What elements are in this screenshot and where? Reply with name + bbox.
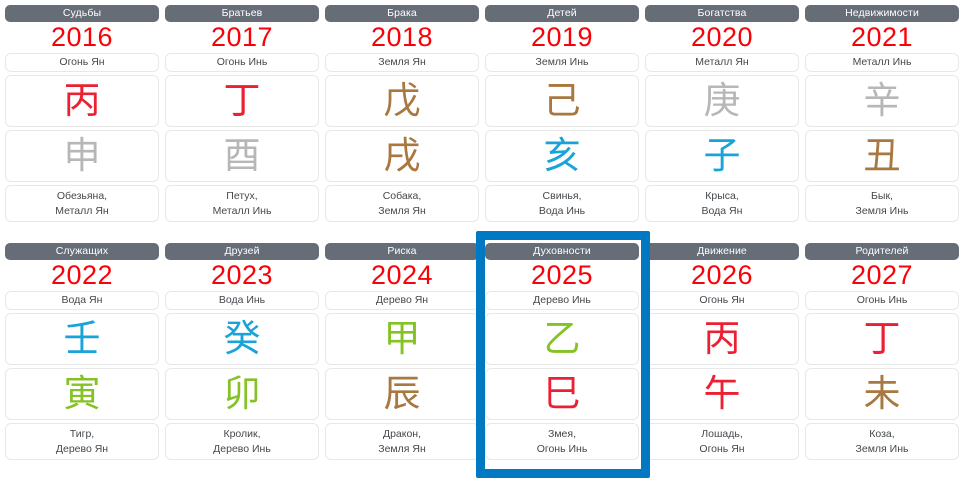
zodiac-animal-element: Дерево Инь — [166, 442, 318, 457]
heavenly-stem-glyph: 癸 — [224, 319, 261, 359]
zodiac-animal-name: Коза, — [806, 427, 958, 442]
zodiac-animal-element: Земля Ян — [326, 204, 478, 219]
zodiac-animal-name: Лошадь, — [646, 427, 798, 442]
earthly-branch-glyph: 亥 — [544, 136, 581, 176]
year-pillar-column-2024[interactable]: Риска 2024 Дерево Ян 甲 辰 Дракон, Земля Я… — [322, 238, 482, 476]
earthly-branch-glyph: 午 — [704, 374, 741, 414]
pillar-aspect-header: Служащих — [5, 243, 159, 260]
heavenly-stem-card: 乙 — [485, 313, 639, 365]
zodiac-animal-card: Крыса, Вода Ян — [645, 185, 799, 222]
zodiac-animal-element: Металл Инь — [166, 204, 318, 219]
earthly-branch-card: 子 — [645, 130, 799, 182]
pillar-element-card: Дерево Ян — [325, 291, 479, 310]
zodiac-animal-card: Змея, Огонь Инь — [485, 423, 639, 460]
pillar-element-card: Огонь Инь — [805, 291, 959, 310]
pillar-year-label: 2023 — [165, 260, 319, 288]
earthly-branch-card: 午 — [645, 368, 799, 420]
pillar-element-card: Земля Инь — [485, 53, 639, 72]
zodiac-animal-name: Тигр, — [6, 427, 158, 442]
pillar-element-card: Огонь Инь — [165, 53, 319, 72]
zodiac-animal-element: Земля Инь — [806, 204, 958, 219]
zodiac-animal-element: Металл Ян — [6, 204, 158, 219]
zodiac-animal-element: Дерево Ян — [6, 442, 158, 457]
earthly-branch-glyph: 辰 — [384, 374, 421, 414]
zodiac-animal-name: Петух, — [166, 189, 318, 204]
heavenly-stem-glyph: 丙 — [704, 319, 741, 359]
zodiac-animal-element: Земля Инь — [806, 442, 958, 457]
earthly-branch-card: 丑 — [805, 130, 959, 182]
heavenly-stem-card: 庚 — [645, 75, 799, 127]
zodiac-animal-element: Огонь Ян — [646, 442, 798, 457]
earthly-branch-glyph: 寅 — [64, 374, 101, 414]
zodiac-animal-card: Бык, Земля Инь — [805, 185, 959, 222]
zodiac-animal-element: Вода Инь — [486, 204, 638, 219]
zodiac-animal-name: Кролик, — [166, 427, 318, 442]
pillar-year-label: 2020 — [645, 22, 799, 50]
pillar-year-label: 2022 — [5, 260, 159, 288]
zodiac-animal-card: Тигр, Дерево Ян — [5, 423, 159, 460]
earthly-branch-card: 未 — [805, 368, 959, 420]
earthly-branch-glyph: 丑 — [864, 136, 901, 176]
heavenly-stem-card: 甲 — [325, 313, 479, 365]
zodiac-animal-name: Обезьяна, — [6, 189, 158, 204]
heavenly-stem-card: 戊 — [325, 75, 479, 127]
earthly-branch-card: 酉 — [165, 130, 319, 182]
zodiac-animal-name: Змея, — [486, 427, 638, 442]
zodiac-animal-name: Собака, — [326, 189, 478, 204]
pillar-element-card: Вода Инь — [165, 291, 319, 310]
pillar-aspect-header: Брака — [325, 5, 479, 22]
earthly-branch-glyph: 申 — [64, 136, 101, 176]
year-pillars-board: Судьбы 2016 Огонь Ян 丙 申 Обезьяна, Метал… — [0, 0, 960, 484]
zodiac-animal-name: Крыса, — [646, 189, 798, 204]
zodiac-animal-element: Земля Ян — [326, 442, 478, 457]
pillar-aspect-header: Богатства — [645, 5, 799, 22]
pillar-aspect-header: Братьев — [165, 5, 319, 22]
zodiac-animal-card: Кролик, Дерево Инь — [165, 423, 319, 460]
pillar-element-card: Дерево Инь — [485, 291, 639, 310]
year-pillar-column-2026[interactable]: Движение 2026 Огонь Ян 丙 午 Лошадь, Огонь… — [642, 238, 802, 476]
earthly-branch-card: 巳 — [485, 368, 639, 420]
earthly-branch-card: 卯 — [165, 368, 319, 420]
earthly-branch-glyph: 戌 — [384, 136, 421, 176]
zodiac-animal-name: Бык, — [806, 189, 958, 204]
pillar-year-label: 2017 — [165, 22, 319, 50]
heavenly-stem-glyph: 己 — [544, 81, 581, 121]
heavenly-stem-glyph: 丁 — [224, 81, 261, 121]
pillar-year-label: 2019 — [485, 22, 639, 50]
heavenly-stem-glyph: 壬 — [64, 319, 101, 359]
earthly-branch-glyph: 巳 — [544, 374, 581, 414]
zodiac-animal-element: Вода Ян — [646, 204, 798, 219]
pillar-element-card: Огонь Ян — [5, 53, 159, 72]
pillar-year-label: 2021 — [805, 22, 959, 50]
heavenly-stem-glyph: 戊 — [384, 81, 421, 121]
heavenly-stem-glyph: 丁 — [864, 319, 901, 359]
heavenly-stem-card: 丙 — [5, 75, 159, 127]
earthly-branch-glyph: 卯 — [224, 374, 261, 414]
heavenly-stem-card: 癸 — [165, 313, 319, 365]
earthly-branch-glyph: 未 — [864, 374, 901, 414]
zodiac-animal-card: Собака, Земля Ян — [325, 185, 479, 222]
heavenly-stem-glyph: 甲 — [384, 319, 421, 359]
earthly-branch-card: 寅 — [5, 368, 159, 420]
zodiac-animal-name: Дракон, — [326, 427, 478, 442]
pillar-element-card: Металл Инь — [805, 53, 959, 72]
heavenly-stem-card: 己 — [485, 75, 639, 127]
pillar-year-label: 2024 — [325, 260, 479, 288]
year-pillar-column-2021[interactable]: Недвижимости 2021 Металл Инь 辛 丑 Бык, Зе… — [802, 0, 960, 238]
pillar-row: Служащих 2022 Вода Ян 壬 寅 Тигр, Дерево Я… — [2, 238, 958, 476]
heavenly-stem-card: 丙 — [645, 313, 799, 365]
year-pillar-column-2020[interactable]: Богатства 2020 Металл Ян 庚 子 Крыса, Вода… — [642, 0, 802, 238]
pillar-aspect-header: Родителей — [805, 243, 959, 260]
zodiac-animal-card: Петух, Металл Инь — [165, 185, 319, 222]
heavenly-stem-card: 壬 — [5, 313, 159, 365]
heavenly-stem-glyph: 庚 — [704, 81, 741, 121]
earthly-branch-glyph: 子 — [704, 136, 741, 176]
heavenly-stem-glyph: 丙 — [64, 81, 101, 121]
zodiac-animal-card: Дракон, Земля Ян — [325, 423, 479, 460]
heavenly-stem-glyph: 乙 — [544, 319, 581, 359]
pillar-element-card: Вода Ян — [5, 291, 159, 310]
year-pillar-column-2023[interactable]: Друзей 2023 Вода Инь 癸 卯 Кролик, Дерево … — [162, 238, 322, 476]
pillar-year-label: 2016 — [5, 22, 159, 50]
zodiac-animal-card: Обезьяна, Металл Ян — [5, 185, 159, 222]
pillar-aspect-header: Недвижимости — [805, 5, 959, 22]
zodiac-animal-name: Свинья, — [486, 189, 638, 204]
earthly-branch-card: 辰 — [325, 368, 479, 420]
pillar-aspect-header: Друзей — [165, 243, 319, 260]
year-pillar-column-2019[interactable]: Детей 2019 Земля Инь 己 亥 Свинья, Вода Ин… — [482, 0, 642, 238]
zodiac-animal-element: Огонь Инь — [486, 442, 638, 457]
heavenly-stem-card: 辛 — [805, 75, 959, 127]
year-pillar-column-2018[interactable]: Брака 2018 Земля Ян 戊 戌 Собака, Земля Ян — [322, 0, 482, 238]
pillar-element-card: Металл Ян — [645, 53, 799, 72]
year-pillar-column-2016[interactable]: Судьбы 2016 Огонь Ян 丙 申 Обезьяна, Метал… — [2, 0, 162, 238]
pillar-aspect-header: Детей — [485, 5, 639, 22]
pillar-year-label: 2026 — [645, 260, 799, 288]
earthly-branch-glyph: 酉 — [224, 136, 261, 176]
year-pillar-column-2017[interactable]: Братьев 2017 Огонь Инь 丁 酉 Петух, Металл… — [162, 0, 322, 238]
earthly-branch-card: 戌 — [325, 130, 479, 182]
pillar-element-card: Огонь Ян — [645, 291, 799, 310]
zodiac-animal-card: Свинья, Вода Инь — [485, 185, 639, 222]
pillar-aspect-header: Судьбы — [5, 5, 159, 22]
pillar-element-card: Земля Ян — [325, 53, 479, 72]
pillar-year-label: 2018 — [325, 22, 479, 50]
earthly-branch-card: 亥 — [485, 130, 639, 182]
zodiac-animal-card: Коза, Земля Инь — [805, 423, 959, 460]
pillar-aspect-header: Движение — [645, 243, 799, 260]
pillar-aspect-header: Риска — [325, 243, 479, 260]
year-pillar-column-2025[interactable]: Духовности 2025 Дерево Инь 乙 巳 Змея, Ого… — [482, 238, 642, 476]
year-pillar-column-2022[interactable]: Служащих 2022 Вода Ян 壬 寅 Тигр, Дерево Я… — [2, 238, 162, 476]
pillar-row: Судьбы 2016 Огонь Ян 丙 申 Обезьяна, Метал… — [2, 0, 958, 238]
pillar-year-label: 2025 — [485, 260, 639, 288]
zodiac-animal-card: Лошадь, Огонь Ян — [645, 423, 799, 460]
heavenly-stem-glyph: 辛 — [864, 81, 901, 121]
earthly-branch-card: 申 — [5, 130, 159, 182]
year-pillar-column-2027[interactable]: Родителей 2027 Огонь Инь 丁 未 Коза, Земля… — [802, 238, 960, 476]
heavenly-stem-card: 丁 — [165, 75, 319, 127]
pillar-year-label: 2027 — [805, 260, 959, 288]
heavenly-stem-card: 丁 — [805, 313, 959, 365]
pillar-aspect-header: Духовности — [485, 243, 639, 260]
